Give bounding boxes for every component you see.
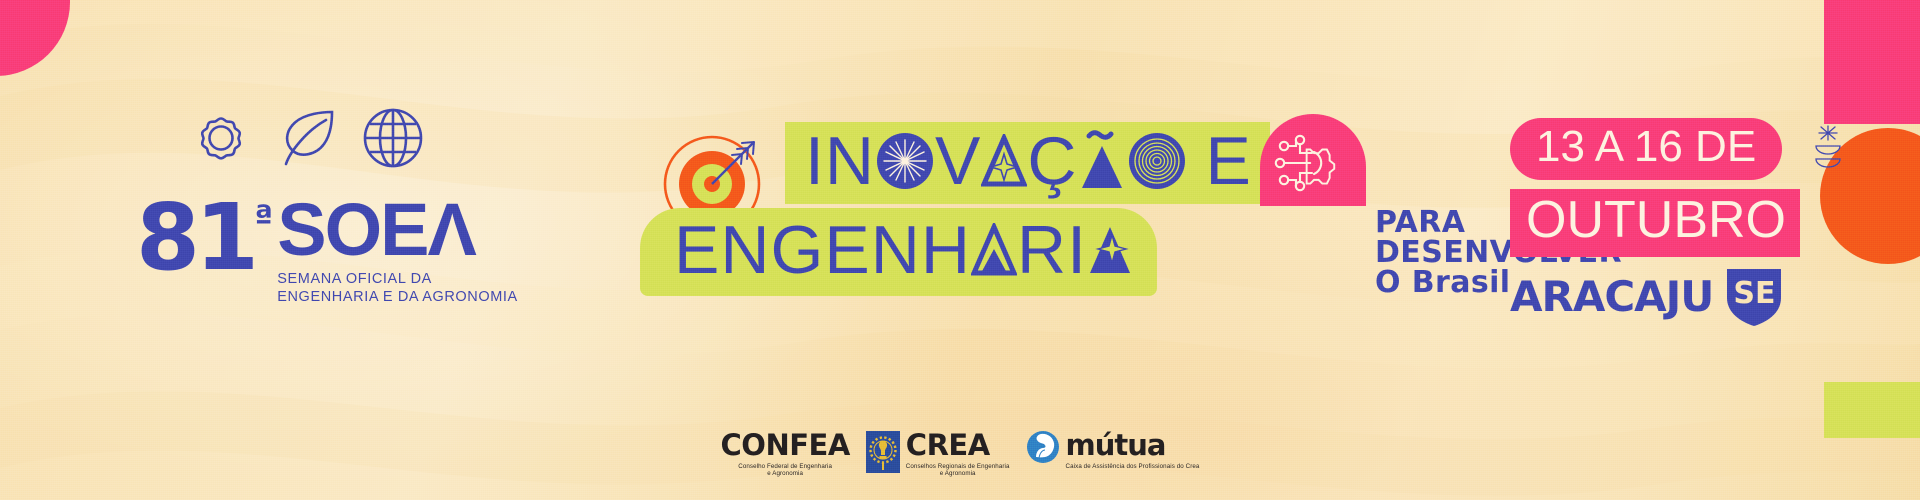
gear-icon [188,105,254,171]
headline2-letter-a1-triangle [971,223,1017,277]
city-row: ARACAJU SE [1510,266,1920,328]
event-banner: 81 ª SOEΛ SEMANA OFICIAL DA ENGENHARIA E… [0,0,1920,500]
city-name: ARACAJU [1510,276,1713,318]
headline-letter-o-sparkle [877,133,933,189]
soea-subtitle: SEMANA OFICIAL DA ENGENHARIA E DA AGRONO… [277,270,518,306]
headline-letter-atilde [1077,130,1127,192]
event-date-block: 13 A 16 DE OUTUBRO ARACAJU SE [1510,118,1920,328]
headline2-letter-e: E [674,216,720,284]
crea-seal-icon [866,431,900,473]
globe-icon [360,105,426,171]
soea-lockup-block: 81 ª SOEΛ SEMANA OFICIAL DA ENGENHARIA E… [136,96,536,306]
crea-logo: CREA Conselhos Regionais de Engenharia e… [866,431,1010,479]
headline2-letter-r: R [1017,216,1067,284]
headline-line-1-pill: I N V [785,122,1270,204]
theme-icon-row [136,96,536,180]
headline-line-1: I N V [785,122,1270,204]
headline-letter-a-sparkle [981,134,1027,188]
crea-wordmark: CREA [906,431,1010,460]
decor-rect-pink-right [1824,0,1920,124]
soea-acronym: SOEΛ [277,200,518,261]
date-range-text: 13 A 16 DE [1536,122,1756,171]
edition-ordinal: ª [254,202,273,236]
confea-subtitle: Conselho Federal de Engenharia e Agronom… [721,463,850,479]
leaf-icon [272,105,342,171]
date-range-pill: 13 A 16 DE [1510,118,1782,180]
headline2-letter-h: H [921,216,971,284]
soea-wordmark: 81 ª SOEΛ SEMANA OFICIAL DA ENGENHARIA E… [136,198,536,306]
headline-letter-i: I [805,127,825,195]
headline-letter-ccedil: Ç [1027,127,1077,195]
crea-subtitle: Conselhos Regionais de Engenharia e Agro… [906,463,1010,479]
month-bar: OUTUBRO [1510,189,1800,257]
confea-wordmark: CONFEA [721,431,850,460]
headline2-letter-n1: N [720,216,770,284]
headline-letter-e: E [1205,127,1251,195]
headline-letter-n: N [825,127,875,195]
headline2-letter-i: I [1067,216,1087,284]
circuit-gear-badge [1260,114,1366,206]
mutua-globe-icon [1026,430,1060,464]
headline2-letter-n2: N [871,216,921,284]
mutua-logo: mútua Caixa de Assistência dos Profissio… [1026,431,1200,471]
headline-line-1-text: I N V [805,127,1252,195]
soea-acronym-lambda: Λ [428,200,475,261]
footer-logo-row: CONFEA Conselho Federal de Engenharia e … [0,431,1920,479]
headline2-letter-g: G [770,216,824,284]
confea-logo: CONFEA Conselho Federal de Engenharia e … [721,431,850,479]
headline2-letter-a2-sparkle [1087,223,1133,277]
state-abbreviation: SE [1723,266,1785,328]
headline-letter-o-spiral [1129,133,1185,189]
headline-line-2-pill: E N G E N H R I [640,208,1157,296]
headline-line-2-text: E N G E N H R I [674,216,1133,284]
mutua-wordmark: mútua [1066,431,1200,460]
month-text: OUTUBRO [1526,191,1786,249]
decor-circle-pink-left [0,0,70,76]
mutua-subtitle: Caixa de Assistência dos Profissionais d… [1066,463,1200,471]
headline-letter-v: V [935,127,981,195]
soea-acronym-text: SOE [277,200,427,261]
bowls-sparkle-icon [1810,124,1846,179]
edition-number: 81 [136,198,254,279]
state-shield-badge: SE [1723,266,1785,328]
headline2-letter-e2: E [824,216,870,284]
